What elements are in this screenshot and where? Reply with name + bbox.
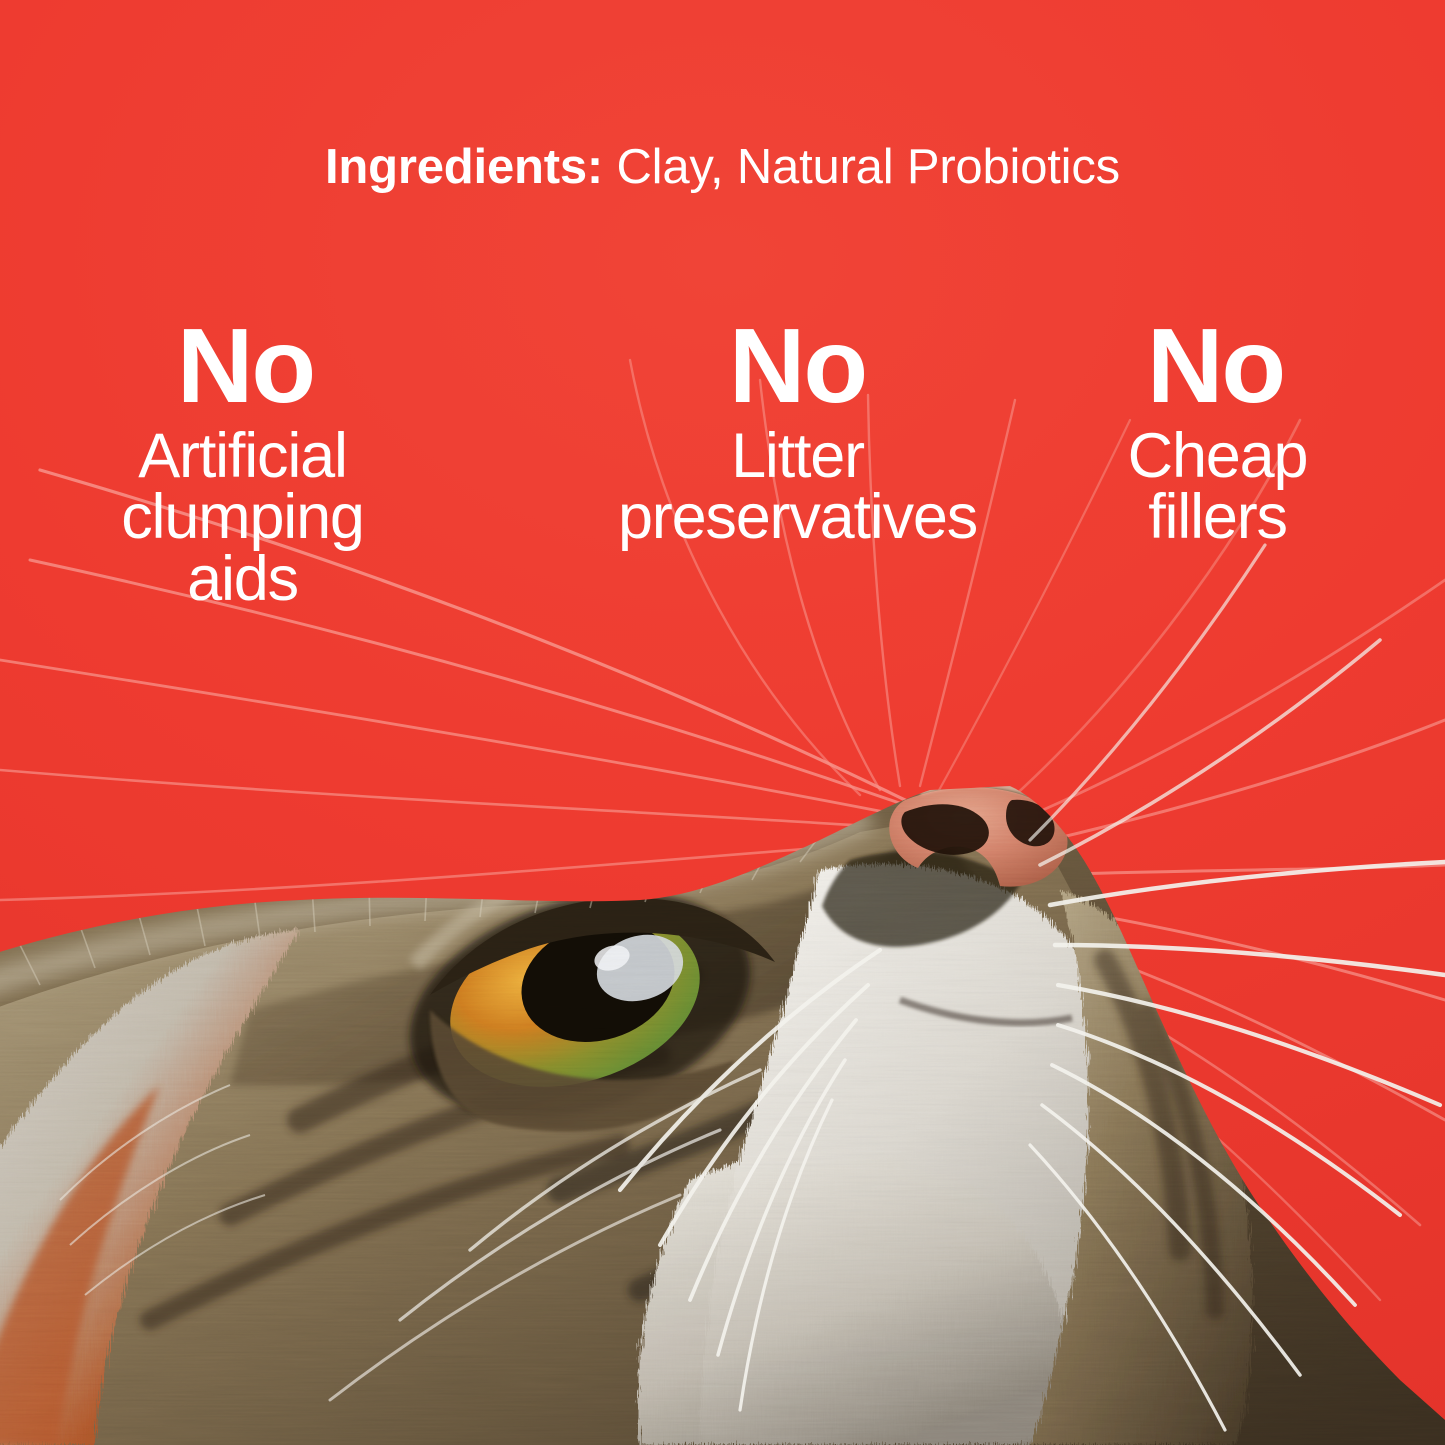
ingredients-value: Clay, Natural Probiotics [603,140,1120,194]
claim-no-word: No [1064,318,1368,416]
claim-no-word: No [558,318,1038,416]
claim-litter-preservatives: No Litter preservatives [558,318,1038,549]
claim-cheap-fillers: No Cheap fillers [1078,318,1368,549]
claim-description: Litter preservatives [558,426,1038,549]
claim-description: Artificial clumping aids [78,426,408,611]
product-claims-poster: Ingredients: Clay, Natural Probiotics No… [0,0,1445,1445]
claim-artificial-clumping-aids: No Artificial clumping aids [78,318,408,611]
claim-no-word: No [84,318,408,416]
ingredients-label: Ingredients: [325,140,603,194]
claim-description: Cheap fillers [1068,426,1368,549]
ingredients-headline: Ingredients: Clay, Natural Probiotics [0,142,1445,193]
red-background [0,0,1445,1445]
claims-row: No Artificial clumping aids No Litter pr… [0,318,1445,611]
